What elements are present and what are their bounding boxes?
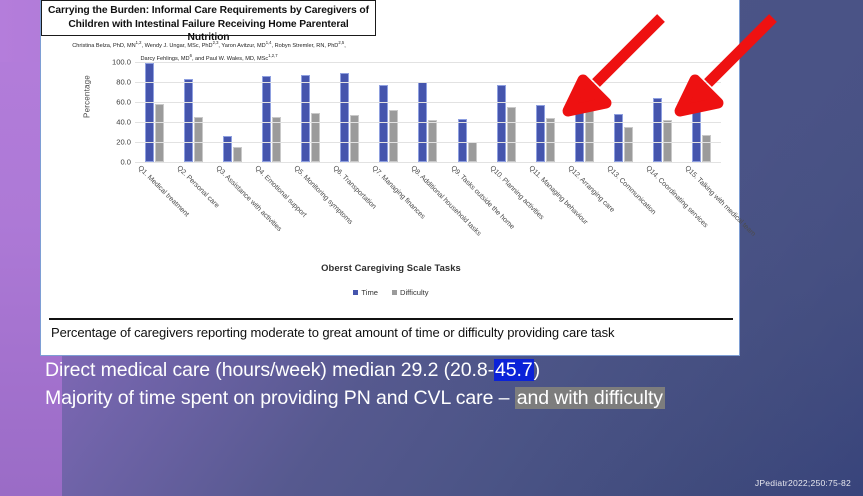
bar-difficulty [272,117,281,162]
bar-difficulty [585,104,594,162]
gridline [135,142,721,143]
bar-difficulty [663,120,672,162]
bar-difficulty [233,147,242,162]
plot-wrap: Percentage 0.020.040.060.080.0100.0 Q1. … [61,62,721,170]
bar-time [536,105,545,162]
legend-item-time: Time [353,288,378,297]
bar-difficulty [155,104,164,162]
bar-group [565,62,604,162]
bar-difficulty [194,117,203,162]
bar-time [301,75,310,162]
bar-group [408,62,447,162]
legend-label-time: Time [361,288,378,297]
plot-area [135,62,721,163]
legend-label-difficulty: Difficulty [400,288,429,297]
bar-group [369,62,408,162]
y-tick-label: 100.0 [112,58,131,67]
x-tick-label: Q9. Tasks outside the home [449,164,516,231]
y-tick-label: 20.0 [116,138,131,147]
paper-title-line1: Carrying the Burden: Informal Care Requi… [48,4,369,18]
bar-group [330,62,369,162]
bullet-line: Majority of time spent on providing PN a… [40,384,825,412]
bar-difficulty [428,120,437,162]
x-axis-title: Oberst Caregiving Scale Tasks [61,262,721,273]
bar-groups [135,62,721,162]
bar-group [174,62,213,162]
bar-difficulty [468,142,477,162]
x-tick-label: Q3. Assistance with activities [214,164,283,233]
y-axis-ticks: 0.020.040.060.080.0100.0 [87,62,131,162]
bar-time [379,85,388,162]
citation-text: JPediatr2022;250:75-82 [755,478,851,488]
y-tick-label: 40.0 [116,118,131,127]
slide-canvas: Carrying the Burden: Informal Care Requi… [0,0,863,496]
bar-group [213,62,252,162]
bar-group [487,62,526,162]
x-axis-tick-labels: Q1. Medical treatmentQ2. Personal careQ3… [135,164,721,260]
bullet-list: Direct medical care (hours/week) median … [40,356,825,412]
bullet-text-tail: ) [534,359,540,381]
bar-group [604,62,643,162]
bar-group [252,62,291,162]
bar-group [448,62,487,162]
author-line-1: Christina Belza, PhD, MN1,2, Wendy J. Un… [43,38,375,51]
author-list: Christina Belza, PhD, MN1,2, Wendy J. Un… [43,38,375,64]
y-tick-label: 0.0 [120,158,131,167]
bar-difficulty [624,127,633,162]
bar-time [145,63,154,162]
bullet-text: Majority of time spent on providing PN a… [45,387,515,409]
figure-caption: Percentage of caregivers reporting moder… [51,325,751,340]
bar-difficulty [389,110,398,162]
bullet-line: Direct medical care (hours/week) median … [40,356,825,384]
bar-group [291,62,330,162]
highlighted-text[interactable]: and with difficulty [515,387,665,409]
gridline [135,122,721,123]
highlighted-text[interactable]: 45.7 [494,359,534,381]
caption-divider [49,318,733,320]
bar-difficulty [507,107,516,162]
gridline [135,102,721,103]
bar-time [458,119,467,162]
legend-swatch-difficulty-icon [392,290,397,295]
gridline [135,82,721,83]
bar-time [223,136,232,162]
y-tick-label: 80.0 [116,78,131,87]
gridline [135,62,721,63]
bar-difficulty [311,113,320,162]
bar-time [262,76,271,162]
bar-difficulty [702,135,711,162]
bar-time [184,79,193,162]
legend-item-difficulty: Difficulty [392,288,429,297]
bar-time [653,98,662,162]
bar-time [497,85,506,162]
x-tick-label: Q15. Talking with medical team [683,164,757,238]
chart-legend: Time Difficulty [61,288,721,297]
x-tick-label: Q8. Additional household tasks [410,164,483,237]
bar-time [340,73,349,162]
bar-difficulty [546,118,555,162]
bar-group [643,62,682,162]
y-tick-label: 60.0 [116,98,131,107]
paper-title-box: Carrying the Burden: Informal Care Requi… [41,0,376,36]
gridline [135,162,721,163]
bar-group [135,62,174,162]
figure-panel: Carrying the Burden: Informal Care Requi… [40,0,740,356]
bar-group [526,62,565,162]
x-tick-label: Q2. Personal care [175,164,220,209]
bullet-text: Direct medical care (hours/week) median … [45,359,494,381]
bar-time [692,98,701,162]
legend-swatch-time-icon [353,290,358,295]
bar-time [575,110,584,162]
bar-chart: Percentage 0.020.040.060.080.0100.0 Q1. … [61,62,721,312]
bar-group [682,62,721,162]
